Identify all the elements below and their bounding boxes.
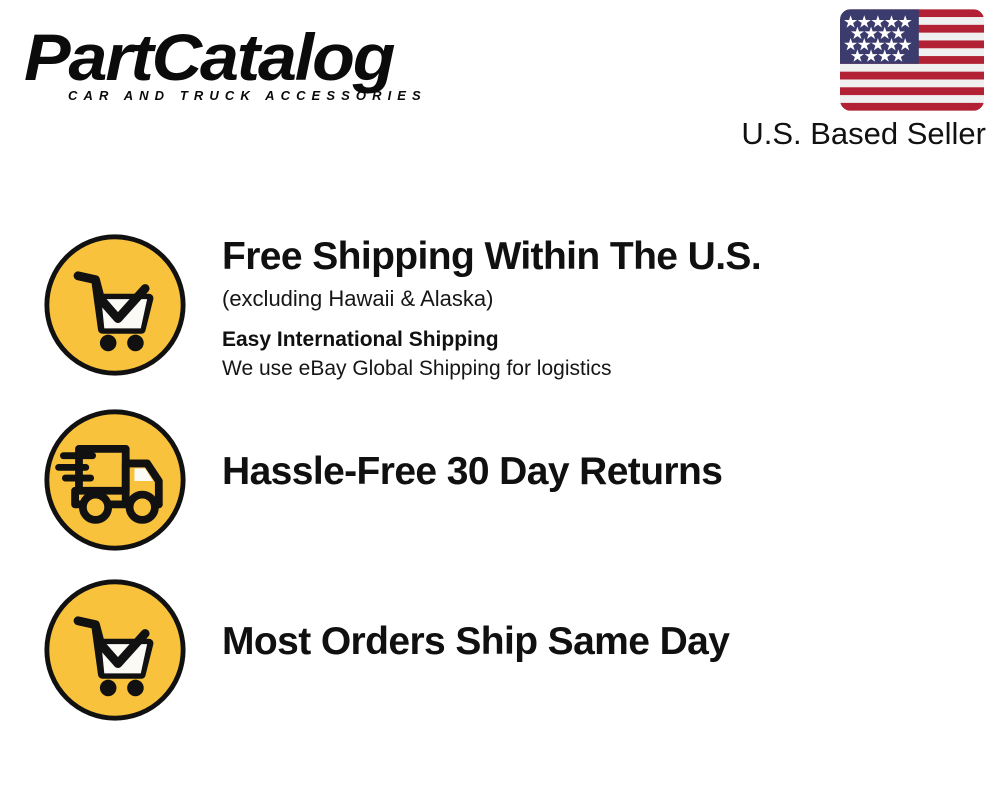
shipping-info-banner: PartCatalog CAR AND TRUCK ACCESSORIES <box>0 0 1000 800</box>
feature-list: Free Shipping Within The U.S. (excluding… <box>0 232 1000 747</box>
us-flag-icon <box>840 8 984 112</box>
feature-text-block: Free Shipping Within The U.S. (excluding… <box>188 232 1000 383</box>
feature-subheading-note: We use eBay Global Shipping for logistic… <box>222 355 1000 383</box>
delivery-truck-icon <box>42 407 188 553</box>
feature-subheading: Easy International Shipping <box>222 326 1000 354</box>
feature-headline: Free Shipping Within The U.S. <box>222 234 1000 280</box>
brand-logo-wordmark: PartCatalog <box>24 22 522 92</box>
feature-row: Hassle-Free 30 Day Returns <box>0 407 1000 577</box>
feature-row: Free Shipping Within The U.S. (excluding… <box>0 232 1000 407</box>
feature-text-block: Hassle-Free 30 Day Returns <box>188 407 1000 495</box>
feature-text-block: Most Orders Ship Same Day <box>188 577 1000 665</box>
brand-logo: PartCatalog CAR AND TRUCK ACCESSORIES <box>24 22 494 118</box>
us-based-seller-badge: U.S. Based Seller <box>696 8 986 152</box>
feature-headline: Hassle-Free 30 Day Returns <box>222 449 1000 495</box>
shopping-cart-check-icon <box>42 232 188 378</box>
shopping-cart-check-icon <box>42 577 188 723</box>
feature-subline: (excluding Hawaii & Alaska) <box>222 284 1000 314</box>
us-based-seller-label: U.S. Based Seller <box>696 116 986 152</box>
feature-row: Most Orders Ship Same Day <box>0 577 1000 747</box>
feature-headline: Most Orders Ship Same Day <box>222 619 1000 665</box>
